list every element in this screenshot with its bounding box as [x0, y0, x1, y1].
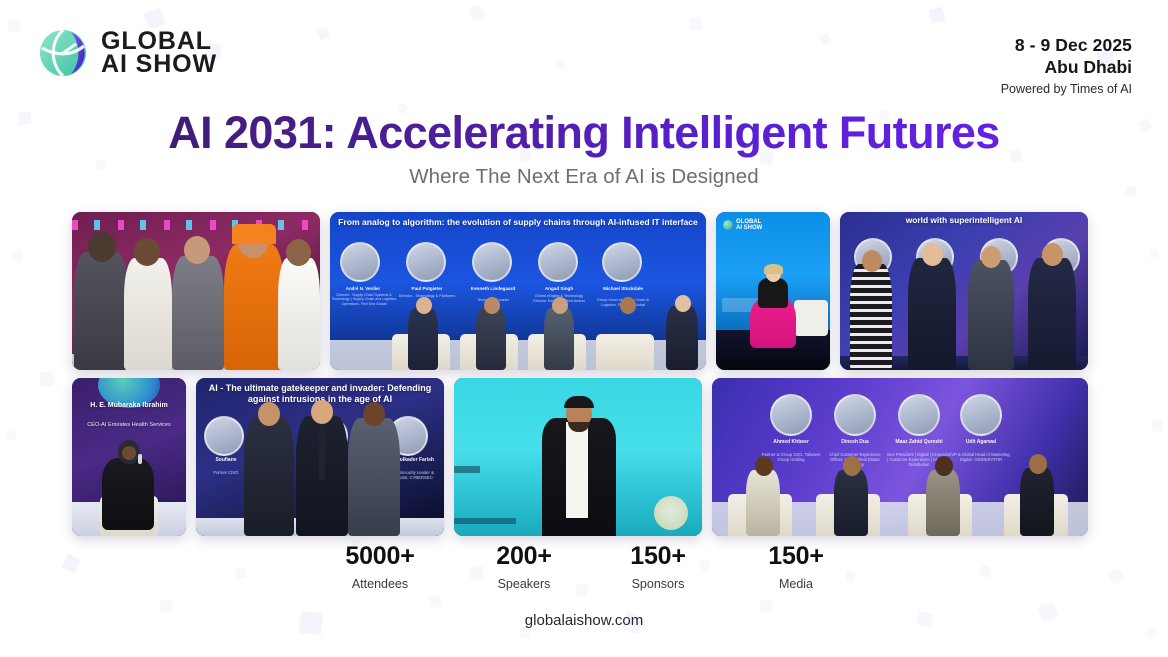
globe-sphere-icon	[36, 26, 90, 80]
stat-sponsors: 150+ Sponsors	[596, 543, 720, 591]
page-header: GLOBAL AI SHOW 8 - 9 Dec 2025 Abu Dhabi …	[0, 0, 1168, 108]
panel-caption: world with superintelligent AI	[840, 216, 1088, 226]
footer: globalaishow.com	[0, 612, 1168, 629]
customer-experience-panel-photo: Ahmed Khbeer Partner & Group CEO, Tafase…	[712, 378, 1088, 536]
stat-value: 150+	[734, 543, 858, 571]
speaker-name: Udit Agarwal	[952, 440, 1010, 446]
website-link[interactable]: globalaishow.com	[525, 612, 643, 629]
stat-label: Sponsors	[596, 577, 720, 591]
hero-title-block: AI 2031: Accelerating Intelligent Future…	[0, 108, 1168, 189]
cybersecurity-panel-photo: AI - The ultimate gatekeeper and invader…	[196, 378, 444, 536]
networking-delegates-photo	[72, 212, 320, 370]
stats-row: 5000+ Attendees 200+ Speakers 150+ Spons…	[0, 543, 1168, 597]
speaker-name: Maaz Zahid Qureshi	[888, 440, 950, 446]
keynote-speaker-pink-photo: GLOBAL AI SHOW	[716, 212, 830, 370]
speaker-name: Ahmed Khbeer	[762, 440, 820, 446]
brand-logo: GLOBAL AI SHOW	[36, 26, 217, 80]
stat-value: 200+	[462, 543, 586, 571]
event-city: Abu Dhabi	[1001, 56, 1132, 78]
speaker-name: Paul Potgieter	[396, 286, 458, 291]
speaker-name: Dinesh Dua	[826, 440, 884, 446]
powered-by: Powered by Times of AI	[1001, 81, 1132, 97]
stat-speakers: 200+ Speakers	[462, 543, 586, 591]
stat-label: Speakers	[462, 577, 586, 591]
speaker-name: Kenneth Lindegaard	[462, 286, 524, 291]
panel-caption: From analog to algorithm: the evolution …	[330, 217, 706, 227]
event-meta: 8 - 9 Dec 2025 Abu Dhabi Powered by Time…	[1001, 26, 1132, 97]
stat-label: Attendees	[316, 577, 444, 591]
speaker-role: Director - Supply Chain Systems & Techno…	[330, 293, 400, 306]
event-promo-page: GLOBAL AI SHOW 8 - 9 Dec 2025 Abu Dhabi …	[0, 0, 1168, 657]
speaker-name: André N. Verdier	[330, 286, 396, 291]
photo-gallery: From analog to algorithm: the evolution …	[72, 212, 1096, 536]
stat-value: 5000+	[316, 543, 444, 571]
stage-logo-line-2: AI SHOW	[736, 225, 762, 231]
speaker-role-overlay: CEO-AI Emirates Health Services	[72, 422, 186, 429]
speaker-name-overlay: H. E. Mubaraka Ibrahim	[72, 402, 186, 410]
page-title: AI 2031: Accelerating Intelligent Future…	[0, 108, 1168, 158]
mubaraka-ibrahim-session-photo: H. E. Mubaraka Ibrahim CEO-AI Emirates H…	[72, 378, 186, 536]
page-subtitle: Where The Next Era of AI is Designed	[0, 165, 1168, 189]
stage-screen-logo: GLOBAL AI SHOW	[723, 219, 762, 232]
supply-chain-panel-photo: From analog to algorithm: the evolution …	[330, 212, 706, 370]
stat-label: Media	[734, 577, 858, 591]
stat-value: 150+	[596, 543, 720, 571]
speaker-role: VP & Global Head of Marketing, Digital -…	[950, 452, 1012, 462]
speaker-name: Michael Stockdale	[592, 286, 654, 291]
stat-attendees: 5000+ Attendees	[316, 543, 444, 591]
event-date: 8 - 9 Dec 2025	[1001, 34, 1132, 56]
stat-media: 150+ Media	[734, 543, 858, 591]
speaker-name: Angad Singh	[528, 286, 590, 291]
brand-line-2: AI SHOW	[101, 53, 217, 77]
superintelligent-ai-panel-photo: world with superintelligent AI	[840, 212, 1088, 370]
keynote-speaker-cyan-photo	[454, 378, 702, 536]
